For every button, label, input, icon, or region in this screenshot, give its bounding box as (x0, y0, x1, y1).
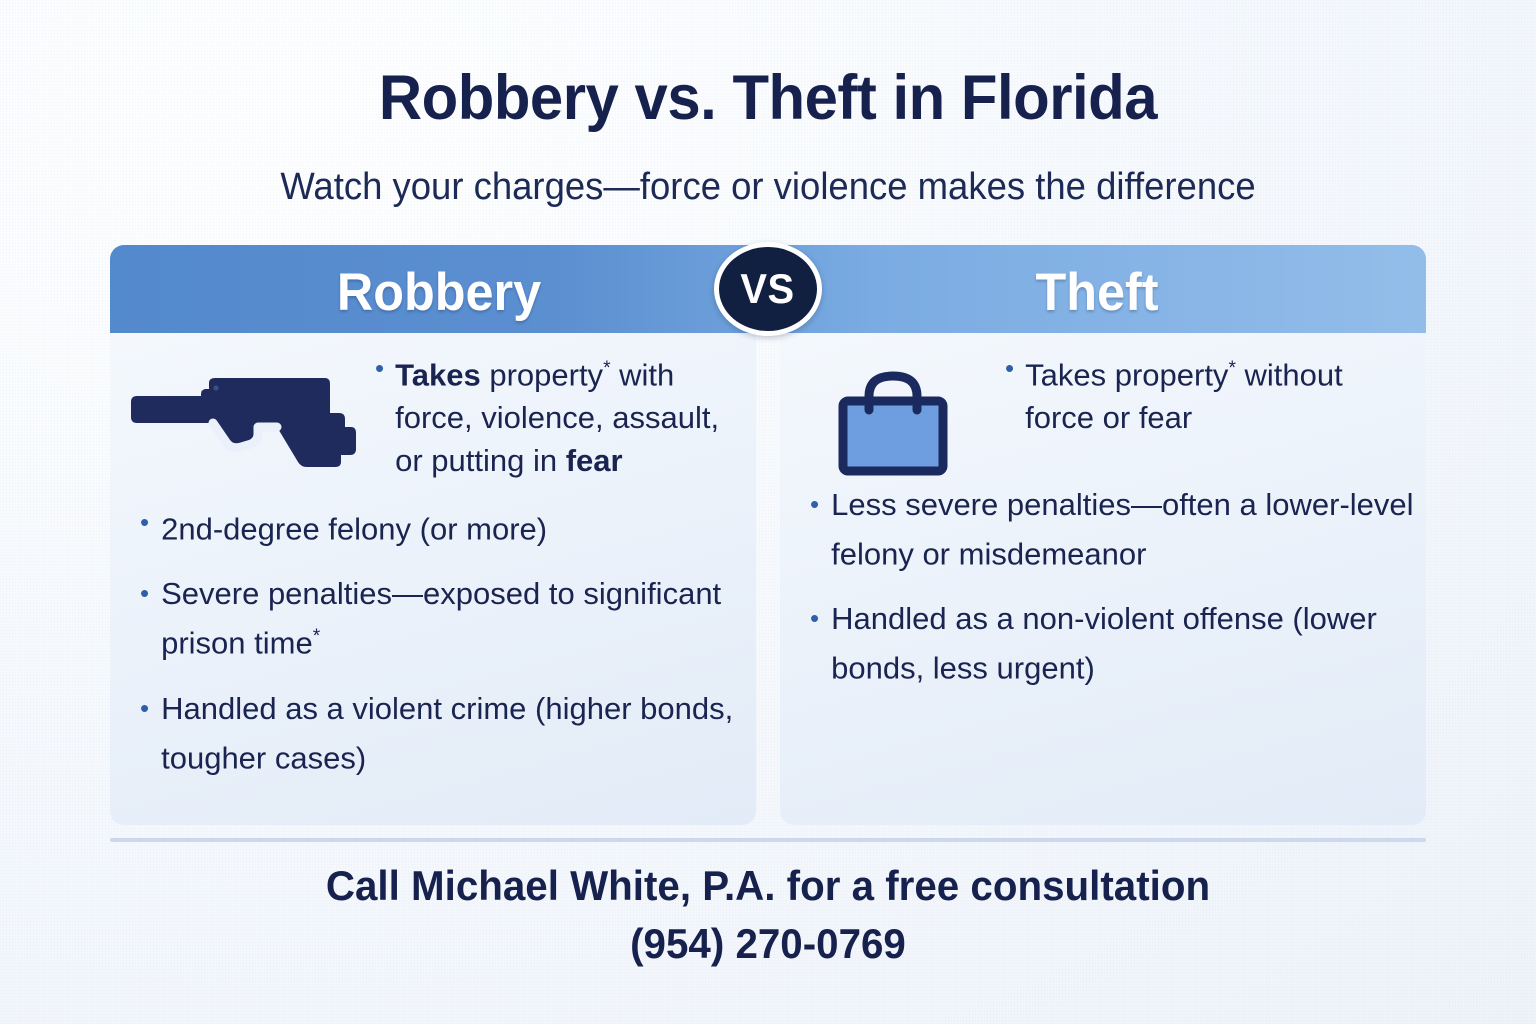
comparison-block: Robbery Theft VS • (110, 245, 1426, 825)
bullet-dot-icon: • (140, 687, 149, 779)
bullet-text: Severe penalties—exposed to significant … (161, 576, 721, 660)
lead-text-1: Takes property (1025, 357, 1228, 392)
bullet-dot-icon: • (140, 501, 149, 550)
panel-theft: • Takes property* without force or fear … (780, 333, 1426, 825)
list-item: • Handled as a non-violent offense (lowe… (810, 597, 1420, 689)
infographic-page: Robbery vs. Theft in Florida Watch your … (0, 0, 1536, 1024)
lead-text-1: property (481, 357, 603, 392)
bullet-dot-icon: • (810, 597, 819, 689)
list-item: • Handled as a violent crime (higher bon… (140, 687, 740, 779)
robbery-lead-bullet: • Takes property* with force, violence, … (375, 347, 756, 482)
lead-superscript: * (603, 358, 610, 379)
robbery-bullet-list: • 2nd-degree felony (or more) • Severe p… (140, 501, 740, 801)
lead-bold-tail: fear (566, 443, 623, 478)
lead-bold-lead: Takes (395, 357, 481, 392)
bullet-dot-icon: • (1005, 347, 1014, 439)
bullet-text: Handled as a violent crime (higher bonds… (161, 691, 733, 775)
bullet-text: Less severe penalties—often a lower-leve… (831, 487, 1413, 571)
column-heading-robbery: Robbery (126, 262, 751, 323)
list-item: • Less severe penalties—often a lower-le… (810, 483, 1420, 575)
panel-divider (756, 333, 780, 825)
vs-badge: VS (714, 242, 822, 336)
column-heading-theft: Theft (784, 262, 1409, 323)
theft-lead-row: • Takes property* without force or fear (780, 347, 1426, 497)
bullet-dot-icon: • (375, 347, 384, 482)
page-title: Robbery vs. Theft in Florida (38, 62, 1497, 134)
bullet-superscript: * (313, 626, 320, 647)
theft-bullet-list: • Less severe penalties—often a lower-le… (810, 483, 1420, 712)
list-item: • Severe penalties—exposed to significan… (140, 572, 740, 664)
handgun-icon (110, 347, 375, 497)
bullet-text: 2nd-degree felony (or more) (161, 511, 547, 546)
bullet-dot-icon: • (140, 572, 149, 664)
list-item: • 2nd-degree felony (or more) (140, 501, 740, 550)
page-subtitle: Watch your charges—force or violence mak… (31, 166, 1506, 209)
theft-lead-bullet: • Takes property* without force or fear (1005, 347, 1426, 439)
cta-text: Call Michael White, P.A. for a free cons… (31, 862, 1506, 910)
lead-superscript: * (1228, 358, 1235, 379)
shopping-bag-icon (780, 347, 1005, 497)
vs-badge-label: VS (741, 265, 795, 313)
bullet-dot-icon: • (810, 483, 819, 575)
footer-divider (110, 838, 1426, 842)
bullet-text: Handled as a non-violent offense (lower … (831, 601, 1377, 685)
panel-robbery: • Takes property* with force, violence, … (110, 333, 756, 825)
comparison-panels: • Takes property* with force, violence, … (110, 333, 1426, 825)
robbery-lead-row: • Takes property* with force, violence, … (110, 347, 756, 497)
phone-number: (954) 270-0769 (31, 920, 1506, 968)
